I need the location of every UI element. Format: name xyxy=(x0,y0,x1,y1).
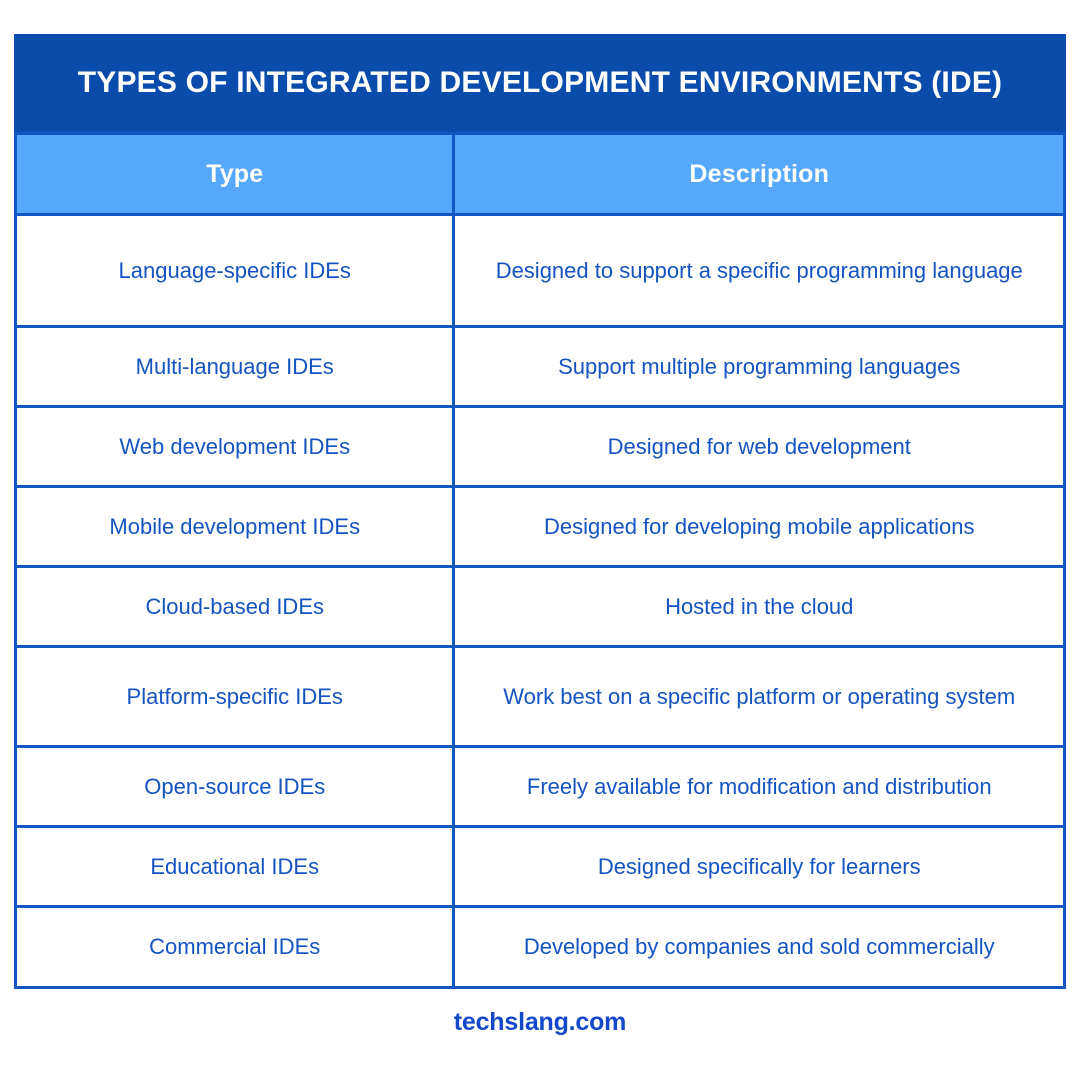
table-row: Mobile development IDEs Designed for dev… xyxy=(16,487,1065,567)
cell-type: Web development IDEs xyxy=(16,407,454,487)
table-row: Multi-language IDEs Support multiple pro… xyxy=(16,327,1065,407)
table-header: Type Description xyxy=(16,134,1065,215)
cell-type: Language-specific IDEs xyxy=(16,215,454,327)
footer: techslang.com xyxy=(0,1008,1080,1037)
cell-type: Multi-language IDEs xyxy=(16,327,454,407)
cell-description: Support multiple programming languages xyxy=(454,327,1065,407)
cell-description: Work best on a specific platform or oper… xyxy=(454,647,1065,747)
table-row: Cloud-based IDEs Hosted in the cloud xyxy=(16,567,1065,647)
table-row: Commercial IDEs Developed by companies a… xyxy=(16,907,1065,988)
cell-description: Designed for web development xyxy=(454,407,1065,487)
cell-type: Mobile development IDEs xyxy=(16,487,454,567)
column-header-type: Type xyxy=(16,134,454,215)
cell-type: Platform-specific IDEs xyxy=(16,647,454,747)
title-banner: TYPES OF INTEGRATED DEVELOPMENT ENVIRONM… xyxy=(14,34,1066,132)
cell-type: Cloud-based IDEs xyxy=(16,567,454,647)
column-header-description: Description xyxy=(454,134,1065,215)
cell-description: Designed to support a specific programmi… xyxy=(454,215,1065,327)
page-title: TYPES OF INTEGRATED DEVELOPMENT ENVIRONM… xyxy=(78,66,1003,101)
cell-description: Freely available for modification and di… xyxy=(454,747,1065,827)
ide-types-table: Type Description Language-specific IDEs … xyxy=(14,132,1066,989)
cell-description: Designed for developing mobile applicati… xyxy=(454,487,1065,567)
brand-watermark: techslang.com xyxy=(454,1008,626,1037)
infographic-page: TYPES OF INTEGRATED DEVELOPMENT ENVIRONM… xyxy=(0,0,1080,1080)
cell-type: Open-source IDEs xyxy=(16,747,454,827)
table-row: Educational IDEs Designed specifically f… xyxy=(16,827,1065,907)
table-header-row: Type Description xyxy=(16,134,1065,215)
cell-type: Commercial IDEs xyxy=(16,907,454,988)
table-body: Language-specific IDEs Designed to suppo… xyxy=(16,215,1065,988)
table-row: Web development IDEs Designed for web de… xyxy=(16,407,1065,487)
table-row: Platform-specific IDEs Work best on a sp… xyxy=(16,647,1065,747)
cell-type: Educational IDEs xyxy=(16,827,454,907)
table-row: Open-source IDEs Freely available for mo… xyxy=(16,747,1065,827)
ide-types-infographic: TYPES OF INTEGRATED DEVELOPMENT ENVIRONM… xyxy=(14,34,1066,989)
table-row: Language-specific IDEs Designed to suppo… xyxy=(16,215,1065,327)
cell-description: Designed specifically for learners xyxy=(454,827,1065,907)
cell-description: Developed by companies and sold commerci… xyxy=(454,907,1065,988)
cell-description: Hosted in the cloud xyxy=(454,567,1065,647)
